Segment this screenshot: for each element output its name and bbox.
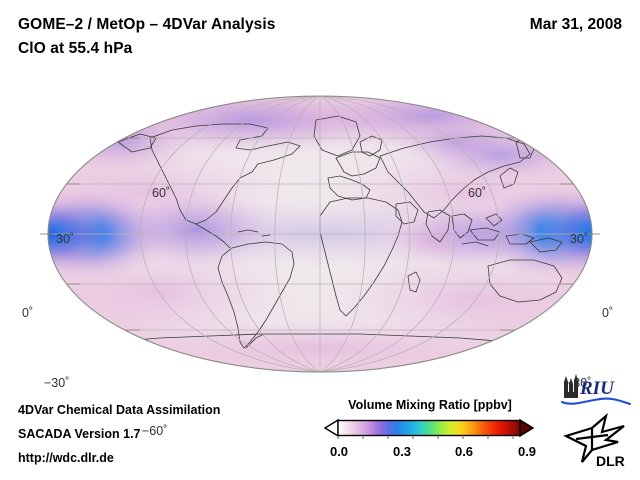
- riu-wave-icon: [562, 399, 630, 404]
- figure-root: GOME–2 / MetOp – 4DVar Analysis ClO at 5…: [0, 0, 640, 480]
- riu-tower-icon: [564, 374, 578, 398]
- colorbar-cap-low: [325, 420, 338, 436]
- map-panel: 60˚ 30˚ 0˚ −30˚ −60˚ 60˚ 30˚ 0˚ −30˚ −60…: [0, 80, 640, 380]
- lat-label-right-30: 30˚: [570, 232, 588, 246]
- page-subtitle: ClO at 55.4 hPa: [18, 40, 132, 58]
- lat-label-left-m30: −30˚: [44, 376, 69, 390]
- colorbar-tick-label-0: 0.0: [330, 444, 348, 459]
- colorbar: [316, 417, 542, 439]
- colorbar-title: Volume Mixing Ratio [ppbv]: [325, 398, 535, 412]
- lat-label-left-0: 0˚: [22, 306, 33, 320]
- map-data-layer: [0, 80, 640, 380]
- colorbar-tick-label-2: 0.6: [455, 444, 473, 459]
- world-map: [0, 80, 640, 380]
- lat-label-left-60: 60˚: [152, 186, 170, 200]
- colorbar-cap-high: [520, 420, 533, 436]
- dlr-logo: DLR: [562, 412, 632, 470]
- dlr-wordmark: DLR: [596, 453, 625, 469]
- lat-label-right-0: 0˚: [602, 306, 613, 320]
- colorbar-tick-label-1: 0.3: [393, 444, 411, 459]
- lat-label-right-60: 60˚: [468, 186, 486, 200]
- lat-label-left-m60: −60˚: [142, 424, 167, 438]
- riu-wordmark: RIU: [579, 378, 615, 399]
- footer-url[interactable]: http://wdc.dlr.de: [18, 451, 114, 465]
- colorbar-gradient: [338, 421, 520, 436]
- riu-logo: RIU: [556, 372, 632, 406]
- page-title: GOME–2 / MetOp – 4DVar Analysis: [18, 16, 276, 34]
- date-label: Mar 31, 2008: [530, 16, 622, 34]
- footer-description: 4DVar Chemical Data Assimilation: [18, 403, 220, 417]
- footer-version: SACADA Version 1.7: [18, 427, 141, 441]
- colorbar-tick-label-3: 0.9: [518, 444, 536, 459]
- lat-label-left-30: 30˚: [56, 232, 74, 246]
